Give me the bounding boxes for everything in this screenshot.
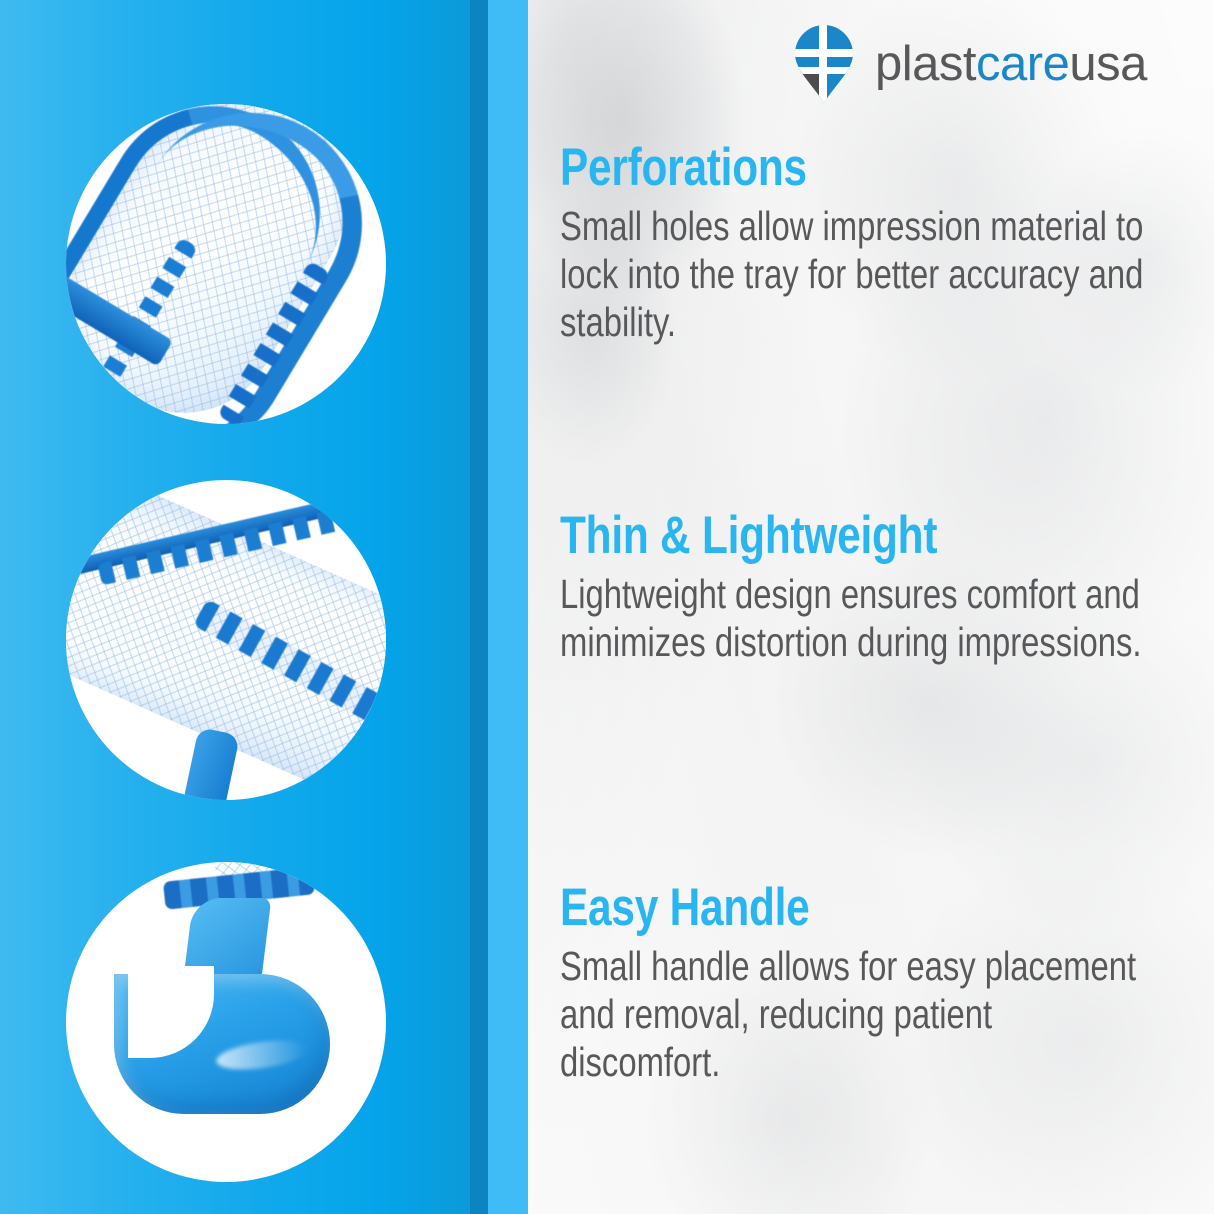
accent-stripe-dark bbox=[470, 0, 488, 1214]
feature-block-perforations: Perforations Small holes allow impressio… bbox=[560, 140, 1160, 347]
wordmark-care: care bbox=[976, 37, 1069, 91]
feature-description: Lightweight design ensures comfort and m… bbox=[560, 571, 1156, 667]
feature-block-easy-handle: Easy Handle Small handle allows for easy… bbox=[560, 880, 1160, 1087]
brand-wordmark: plastcareusa bbox=[875, 40, 1147, 89]
product-photo-circle-perforations bbox=[66, 104, 386, 424]
wordmark-usa: usa bbox=[1069, 37, 1147, 91]
brand-logo[interactable]: plastcareusa bbox=[795, 28, 1147, 100]
feature-title: Thin & Lightweight bbox=[560, 508, 1040, 564]
feature-block-thin-lightweight: Thin & Lightweight Lightweight design en… bbox=[560, 508, 1160, 667]
plastcare-shield-cross-pin-icon bbox=[795, 25, 853, 103]
product-photo-circle-thin-lightweight bbox=[66, 480, 386, 800]
impression-tray-sidewall-illustration bbox=[66, 480, 386, 800]
impression-tray-handle-illustration bbox=[66, 862, 386, 1182]
impression-tray-arch-illustration bbox=[66, 104, 386, 424]
accent-stripe-light bbox=[488, 0, 528, 1214]
feature-title: Easy Handle bbox=[560, 880, 1040, 936]
feature-description: Small handle allows for easy placement a… bbox=[560, 943, 1156, 1087]
product-photo-circle-easy-handle bbox=[66, 862, 386, 1182]
feature-description: Small holes allow impression material to… bbox=[560, 203, 1156, 347]
wordmark-plast: plast bbox=[875, 37, 976, 91]
feature-title: Perforations bbox=[560, 140, 1040, 196]
product-feature-poster: plastcareusa Perforations Small holes al… bbox=[0, 0, 1214, 1214]
